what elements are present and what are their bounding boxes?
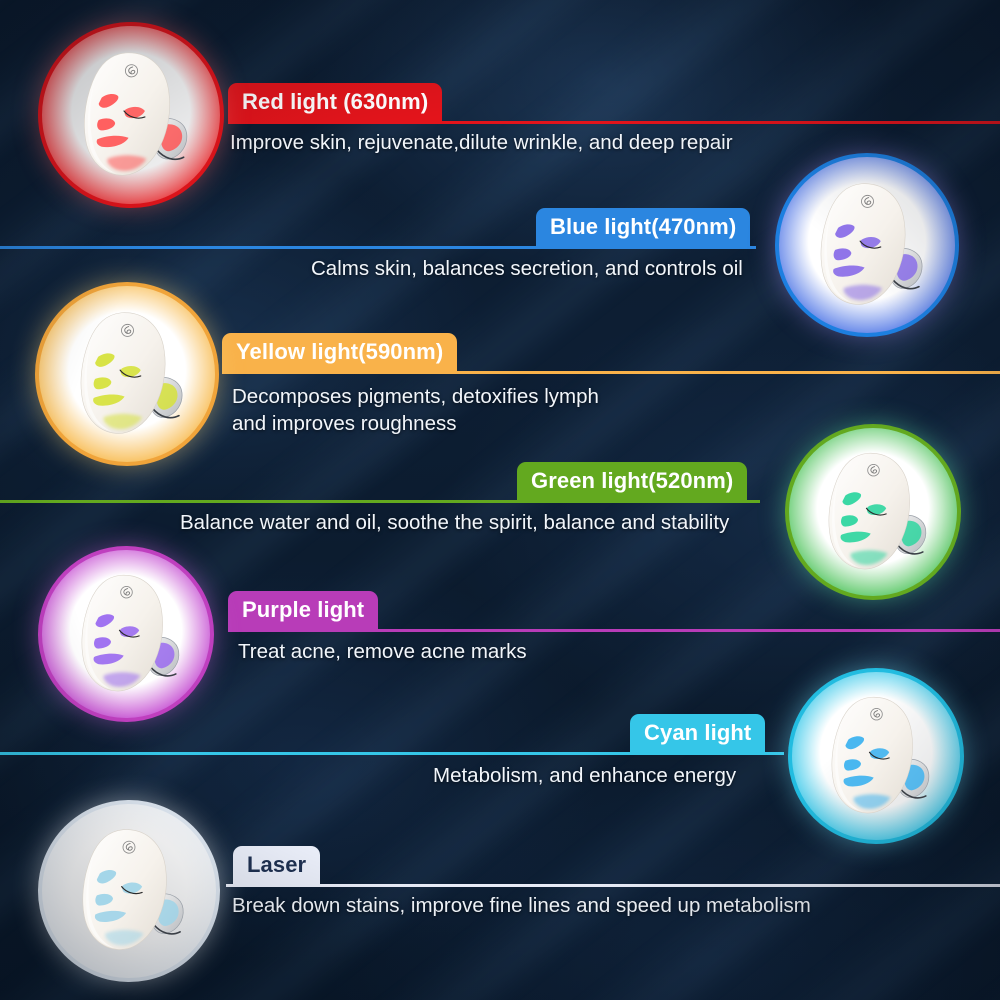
mask-circle-green — [785, 424, 961, 600]
led-face-mask-icon — [794, 172, 941, 319]
divider-cyan — [0, 752, 784, 755]
label-pill-purple[interactable]: Purple light — [228, 591, 378, 629]
led-face-mask-icon — [54, 301, 201, 448]
label-pill-laser[interactable]: Laser — [233, 846, 320, 884]
label-pill-red[interactable]: Red light (630nm) — [228, 83, 442, 121]
label-pill-cyan[interactable]: Cyan light — [630, 714, 765, 752]
label-pill-blue[interactable]: Blue light(470nm) — [536, 208, 750, 246]
mask-circle-yellow — [35, 282, 219, 466]
divider-laser — [226, 884, 1000, 887]
infographic-canvas: Red light (630nm) Blue light(470nm) Yell… — [0, 0, 1000, 1000]
divider-green — [0, 500, 760, 503]
description-laser: Break down stains, improve fine lines an… — [232, 892, 811, 919]
mask-circle-purple — [38, 546, 214, 722]
led-face-mask-icon — [56, 564, 197, 705]
divider-yellow — [222, 371, 1000, 374]
mask-circle-cyan — [788, 668, 964, 844]
led-face-mask-icon — [57, 41, 206, 190]
description-red: Improve skin, rejuvenate,dilute wrinkle,… — [230, 129, 733, 156]
mask-circle-red — [38, 22, 224, 208]
led-face-mask-icon — [56, 818, 202, 964]
divider-red — [228, 121, 1000, 124]
label-pill-green[interactable]: Green light(520nm) — [517, 462, 747, 500]
led-face-mask-icon — [806, 686, 947, 827]
description-cyan: Metabolism, and enhance energy — [433, 762, 736, 789]
mask-circle-blue — [775, 153, 959, 337]
description-yellow: Decomposes pigments, detoxifies lymph an… — [232, 383, 599, 438]
mask-circle-laser — [38, 800, 220, 982]
label-pill-yellow[interactable]: Yellow light(590nm) — [222, 333, 457, 371]
description-purple: Treat acne, remove acne marks — [238, 638, 527, 665]
divider-purple — [228, 629, 1000, 632]
description-green: Balance water and oil, soothe the spirit… — [180, 509, 729, 536]
divider-blue — [0, 246, 756, 249]
led-face-mask-icon — [803, 442, 944, 583]
description-blue: Calms skin, balances secretion, and cont… — [311, 255, 743, 282]
